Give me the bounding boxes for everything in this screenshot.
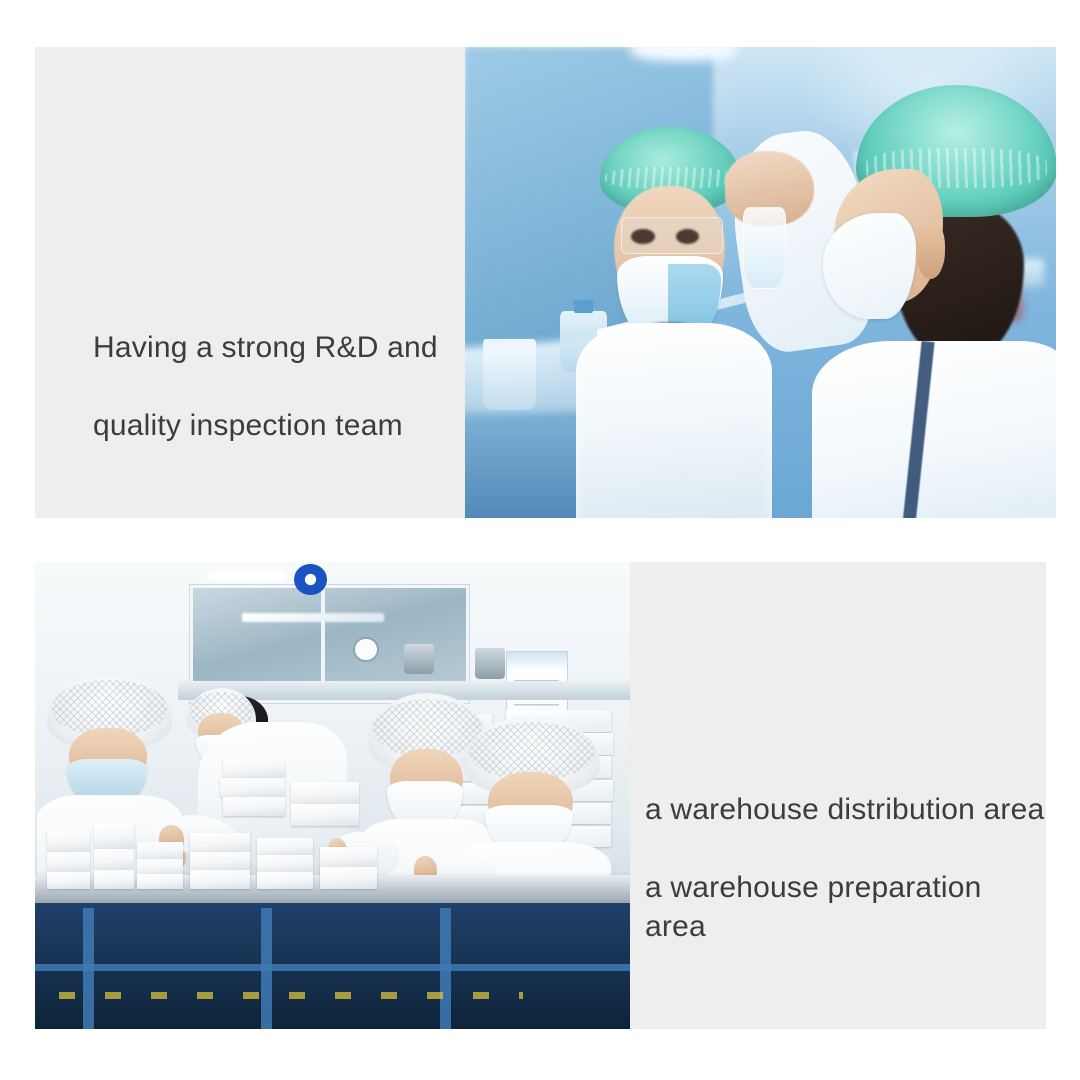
eye-left <box>631 229 654 245</box>
face-mask <box>823 213 915 319</box>
top-caption-panel: Having a strong R&D and quality inspecti… <box>35 47 467 518</box>
wall-clock-icon <box>353 637 378 662</box>
top-caption-line-1: Having a strong R&D and <box>93 331 438 364</box>
page-root: Having a strong R&D and quality inspecti… <box>0 0 1080 1080</box>
top-caption-text: Having a strong R&D and quality inspecti… <box>93 289 467 445</box>
warehouse-packing-photo <box>35 562 630 1029</box>
bottom-caption-line-2: a warehouse preparation area <box>645 871 982 943</box>
bottom-caption-text: a warehouse distribution area a warehous… <box>645 751 1045 946</box>
steel-container-1 <box>404 644 434 674</box>
top-caption-line-2: quality inspection team <box>93 409 403 442</box>
steel-container-2 <box>475 648 505 678</box>
lab-technician-profile <box>796 85 1056 518</box>
bottom-caption-line-1: a warehouse distribution area <box>645 793 1044 826</box>
lab-coat <box>576 323 772 518</box>
lab-beaker <box>483 339 536 410</box>
blue-circular-sign-icon <box>294 564 327 594</box>
sample-vial <box>743 207 786 289</box>
table-cross-beam <box>35 964 630 971</box>
carton-stack-middle <box>214 758 369 879</box>
floor-marking <box>59 992 523 999</box>
ceiling-light <box>208 571 285 580</box>
lab-quality-inspection-photo <box>465 47 1056 518</box>
bottom-caption-panel: a warehouse distribution area a warehous… <box>630 562 1046 1029</box>
lab-coat <box>812 341 1056 518</box>
